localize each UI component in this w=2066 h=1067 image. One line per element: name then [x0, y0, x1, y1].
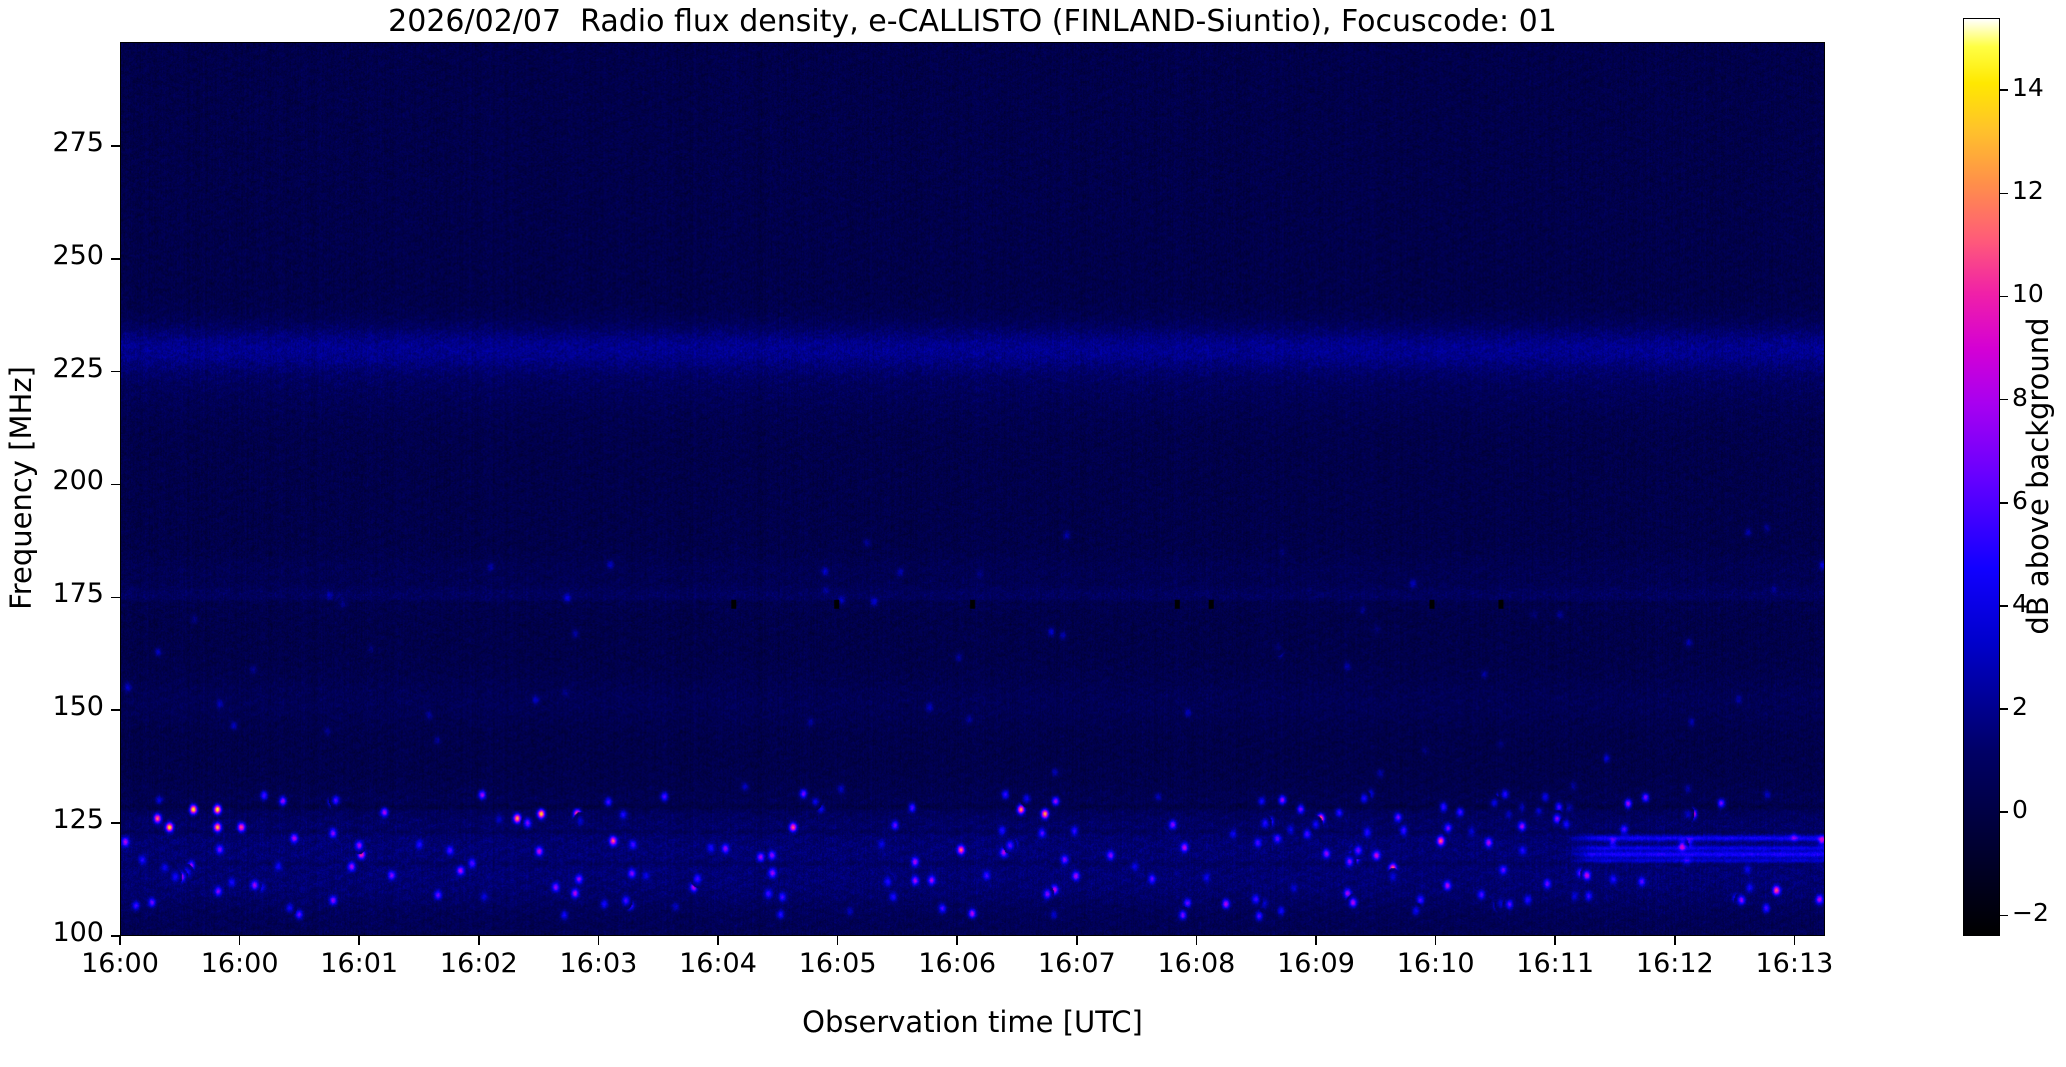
y-tick-mark — [111, 258, 120, 260]
colorbar-tick-mark — [2000, 605, 2008, 607]
colorbar-label: dB above background — [2021, 17, 2055, 935]
y-tick-mark — [111, 371, 120, 373]
colorbar-tick-mark — [2000, 296, 2008, 298]
colorbar-tick-mark — [2000, 502, 2008, 504]
spectrogram-heatmap — [121, 43, 1824, 935]
y-tick-mark — [111, 484, 120, 486]
x-tick-mark — [1794, 936, 1796, 945]
colorbar-tick-mark — [2000, 193, 2008, 195]
x-tick-mark — [956, 936, 958, 945]
y-tick-label: 175 — [0, 578, 104, 609]
y-tick-label: 125 — [0, 804, 104, 835]
x-tick-mark — [119, 936, 121, 945]
y-tick-mark — [111, 597, 120, 599]
x-tick-mark — [1196, 936, 1198, 945]
colorbar-tick-mark — [2000, 811, 2008, 813]
y-tick-label: 225 — [0, 353, 104, 384]
x-tick-mark — [358, 936, 360, 945]
page-title: 2026/02/07 Radio flux density, e-CALLIST… — [120, 4, 1825, 39]
x-tick-mark — [1674, 936, 1676, 945]
x-tick-mark — [598, 936, 600, 945]
colorbar-tick-mark — [2000, 89, 2008, 91]
y-tick-label: 100 — [0, 917, 104, 948]
y-tick-label: 150 — [0, 691, 104, 722]
x-tick-mark — [837, 936, 839, 945]
y-tick-label: 250 — [0, 240, 104, 271]
x-tick-mark — [239, 936, 241, 945]
figure-canvas: 2026/02/07 Radio flux density, e-CALLIST… — [0, 0, 2066, 1067]
x-tick-mark — [1076, 936, 1078, 945]
x-axis-label: Observation time [UTC] — [120, 1005, 1825, 1039]
colorbar-tick-mark — [2000, 399, 2008, 401]
x-tick-mark — [1435, 936, 1437, 945]
y-tick-label: 200 — [0, 465, 104, 496]
spectrogram-axes — [120, 42, 1825, 936]
x-tick-mark — [1554, 936, 1556, 945]
y-tick-label: 275 — [0, 127, 104, 158]
colorbar — [1963, 18, 2000, 936]
x-tick-mark — [1315, 936, 1317, 945]
colorbar-gradient — [1964, 19, 1999, 935]
x-tick-label: 16:13 — [1724, 948, 1864, 979]
x-tick-mark — [717, 936, 719, 945]
y-tick-mark — [111, 709, 120, 711]
y-tick-mark — [111, 822, 120, 824]
colorbar-tick-mark — [2000, 915, 2008, 917]
colorbar-tick-mark — [2000, 708, 2008, 710]
x-tick-mark — [478, 936, 480, 945]
y-tick-mark — [111, 145, 120, 147]
